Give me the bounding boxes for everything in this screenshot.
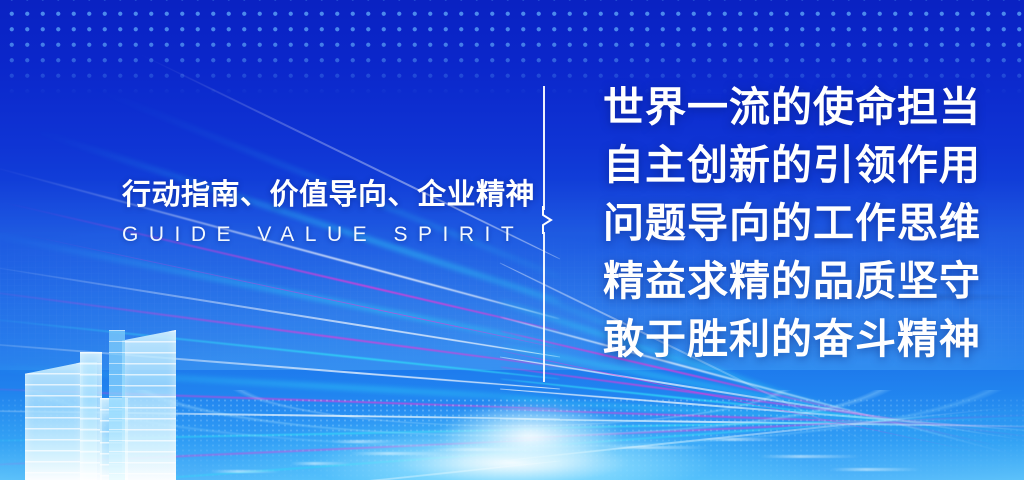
- slogan-line: 世界一流的使命担当: [603, 78, 981, 136]
- building-left: [25, 362, 83, 480]
- floor-dash: [700, 438, 780, 441]
- city-base-glow: [400, 398, 660, 468]
- vertical-divider: [543, 86, 546, 382]
- chevron-right-icon: [542, 206, 553, 234]
- building-face: [80, 352, 102, 480]
- floor-dash: [760, 455, 860, 458]
- divider-segment-top: [543, 86, 545, 210]
- slogan-line: 精益求精的品质坚守: [603, 252, 981, 310]
- slogan-line: 自主创新的引领作用: [603, 136, 981, 194]
- left-text-block: 行动指南、价值导向、企业精神 GUIDE VALUE SPIRIT: [122, 176, 535, 247]
- building-mid-tall: [80, 352, 102, 480]
- floor-dash: [210, 470, 280, 473]
- floor-dash: [290, 462, 350, 465]
- slogan-line: 问题导向的工作思维: [603, 194, 981, 252]
- headline-english: GUIDE VALUE SPIRIT: [122, 223, 535, 247]
- slogan-list: 世界一流的使命担当 自主创新的引领作用 问题导向的工作思维 精益求精的品质坚守 …: [603, 78, 981, 368]
- headline-chinese: 行动指南、价值导向、企业精神: [122, 176, 535, 214]
- floor-dash: [330, 440, 400, 443]
- building-face: [25, 362, 83, 480]
- slogan-line: 敢于胜利的奋斗精神: [603, 310, 981, 368]
- building-right-tall: [122, 330, 176, 480]
- culture-banner: 行动指南、价值导向、企业精神 GUIDE VALUE SPIRIT 世界一流的使…: [0, 0, 1024, 480]
- building-side: [109, 330, 125, 480]
- building-face: [122, 330, 176, 480]
- floor-dash: [830, 468, 920, 471]
- divider-segment-bottom: [543, 232, 545, 382]
